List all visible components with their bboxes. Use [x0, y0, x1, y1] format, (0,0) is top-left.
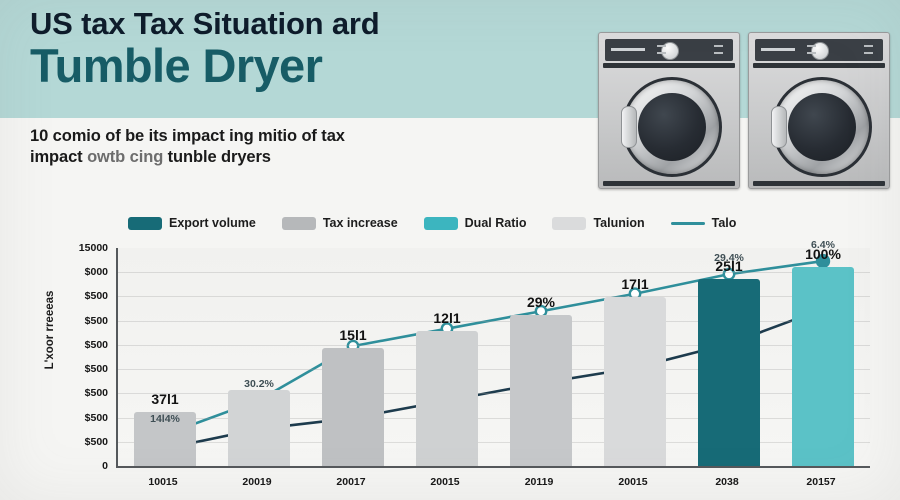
y-tick-label: $500	[85, 363, 108, 375]
chart-area: L'xoor rreeeas 15000$000$500$500$500$500…	[18, 246, 886, 496]
legend-item-2[interactable]: Dual Ratio	[424, 216, 527, 230]
base-trim	[753, 181, 885, 186]
y-tick-label: $500	[85, 387, 108, 399]
x-tick-label: 10015	[148, 476, 177, 488]
legend-color-swatch	[552, 217, 586, 230]
trim-strip	[753, 63, 885, 68]
legend-color-swatch	[424, 217, 458, 230]
display-strip	[761, 48, 795, 51]
panel-tick	[807, 45, 816, 47]
legend-label: Tax increase	[323, 216, 398, 230]
bar-value-label: 12l1	[433, 310, 460, 326]
x-tick-label: 20015	[430, 476, 459, 488]
legend-item-0[interactable]: Export volume	[128, 216, 256, 230]
base-trim	[603, 181, 735, 186]
legend-item-3[interactable]: Talunion	[552, 216, 644, 230]
panel-tick	[657, 52, 666, 54]
panel-tick	[657, 45, 666, 47]
bar-value-label: 37l1	[151, 391, 178, 407]
y-tick-label: $500	[85, 412, 108, 424]
x-tick-label: 2038	[715, 476, 738, 488]
legend-color-swatch	[282, 217, 316, 230]
bar-20019[interactable]	[228, 390, 290, 466]
door-ring	[622, 77, 722, 177]
x-tick-label: 20157	[806, 476, 835, 488]
page-title-line1: US tax Tax Situation ard	[30, 8, 590, 41]
y-tick-label: $500	[85, 315, 108, 327]
subtitle-block: 10 comio of be its impact ing mitio of t…	[30, 126, 590, 169]
line-value-label: 29.4%	[714, 252, 744, 264]
legend-label: Talo	[712, 216, 737, 230]
legend-label: Export volume	[169, 216, 256, 230]
subtitle-seg-a: impact	[30, 148, 87, 166]
chart-legend: Export volumeTax increaseDual RatioTalun…	[128, 212, 768, 234]
y-tick-label: $500	[85, 339, 108, 351]
door-glass	[638, 93, 706, 161]
panel-tick	[864, 45, 873, 47]
line-value-label: 30.2%	[244, 378, 274, 390]
y-tick-label: $000	[85, 266, 108, 278]
bar-20157[interactable]	[792, 267, 854, 466]
infographic-canvas: US tax Tax Situation ard Tumble Dryer 10…	[0, 0, 900, 500]
bar-value-label: 17l1	[621, 276, 648, 292]
y-tick-label: $500	[85, 290, 108, 302]
gridline	[118, 272, 870, 273]
legend-label: Talunion	[593, 216, 644, 230]
tumble-dryer-icon-1	[598, 32, 740, 189]
page-title-line2: Tumble Dryer	[30, 42, 590, 90]
panel-tick	[714, 45, 723, 47]
subtitle-seg-c: tunble dryers	[168, 148, 271, 166]
appliance-illustration-group	[598, 32, 890, 187]
bar-20015[interactable]	[416, 331, 478, 466]
subtitle-line-2: impact owtb cing tunble dryers	[30, 147, 590, 168]
door-ring	[772, 77, 872, 177]
display-strip	[611, 48, 645, 51]
tumble-dryer-icon-2	[748, 32, 890, 189]
trim-strip	[603, 63, 735, 68]
door-handle	[621, 106, 637, 148]
legend-color-swatch	[128, 217, 162, 230]
legend-line-marker	[671, 222, 705, 225]
x-tick-label: 20017	[336, 476, 365, 488]
y-tick-label: $500	[85, 436, 108, 448]
line-value-label: 6.4%	[811, 239, 835, 251]
bar-20119[interactable]	[510, 315, 572, 466]
x-tick-label: 20015	[618, 476, 647, 488]
panel-tick	[714, 52, 723, 54]
title-block: US tax Tax Situation ard Tumble Dryer	[30, 8, 590, 90]
control-panel	[605, 39, 733, 61]
y-axis-ticks: 15000$000$500$500$500$500$500$500$5000	[46, 246, 112, 468]
door-glass	[788, 93, 856, 161]
legend-item-4[interactable]: Talo	[671, 216, 737, 230]
bar-value-label: 15l1	[339, 327, 366, 343]
plot-region: 37l115l112l129%17l125l1100%14l4%30.2%29.…	[116, 248, 870, 468]
legend-label: Dual Ratio	[465, 216, 527, 230]
x-tick-label: 20119	[525, 476, 554, 488]
y-tick-label: 15000	[79, 242, 108, 254]
bar-2038[interactable]	[698, 279, 760, 466]
legend-item-1[interactable]: Tax increase	[282, 216, 398, 230]
x-axis-ticks: 100152001920017200152011920015203820157	[116, 472, 868, 494]
bar-20015[interactable]	[604, 297, 666, 466]
bar-20017[interactable]	[322, 348, 384, 466]
y-tick-label: 0	[102, 460, 108, 472]
control-panel	[755, 39, 883, 61]
panel-tick	[807, 52, 816, 54]
bar-value-label: 29%	[527, 294, 555, 310]
panel-tick	[864, 52, 873, 54]
subtitle-seg-b: owtb cing	[87, 148, 168, 166]
subtitle-line-1: 10 comio of be its impact ing mitio of t…	[30, 126, 590, 147]
line-value-label: 14l4%	[150, 413, 180, 425]
x-tick-label: 20019	[242, 476, 271, 488]
door-handle	[771, 106, 787, 148]
